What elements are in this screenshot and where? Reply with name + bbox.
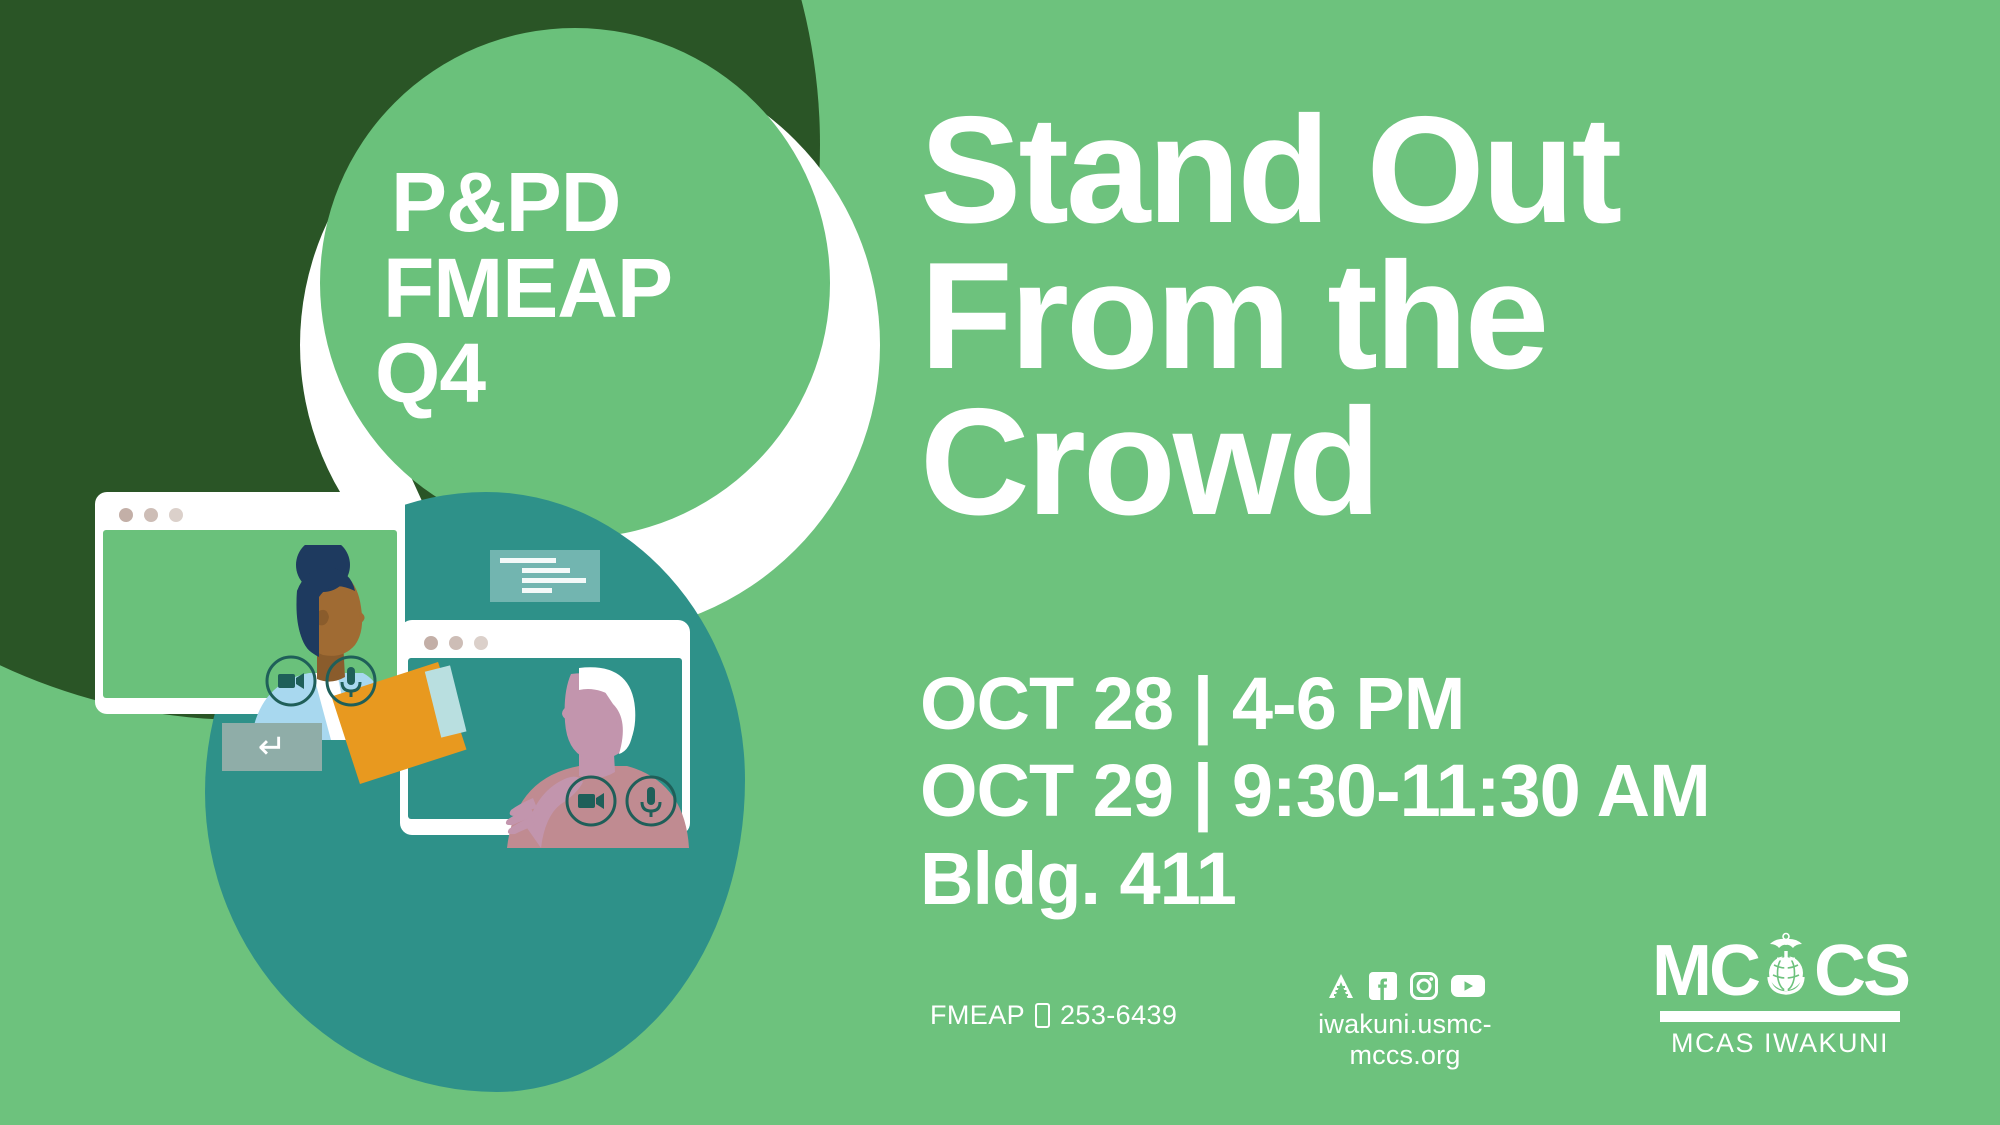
eagle-globe-anchor-icon xyxy=(1752,931,1820,1011)
contact-phone-number: 253-6439 xyxy=(1060,1000,1177,1031)
window-a-video-camera-icon[interactable] xyxy=(265,655,317,707)
mccs-cs-text: CS xyxy=(1814,935,1908,1007)
bubble-line-2: FMEAP xyxy=(375,246,795,332)
chat-line-2 xyxy=(522,568,571,573)
enter-key-button[interactable]: ↵ xyxy=(222,723,322,771)
detail-line-date-2: OCT 29 | 9:30-11:30 AM xyxy=(920,747,1940,834)
chat-line-4 xyxy=(522,588,553,593)
green-dot xyxy=(169,508,183,522)
headline-line-2: From the xyxy=(920,244,1940,390)
chat-line-3 xyxy=(522,578,587,583)
headline-line-3: Crowd xyxy=(920,390,1940,536)
window-b-titlebar xyxy=(408,628,682,658)
detail-line-location: Bldg. 411 xyxy=(920,835,1940,922)
mccs-mc-text: MC xyxy=(1652,935,1758,1007)
headline-line-1: Stand Out xyxy=(920,98,1940,244)
window-a-titlebar xyxy=(103,500,397,530)
mccs-wordmark: MC CS xyxy=(1660,935,1900,1007)
mccs-logo: MC CS MCAS IWAKUNI xyxy=(1660,935,1900,1059)
chat-message-card xyxy=(490,550,600,602)
mobile-phone-icon xyxy=(1035,1003,1050,1028)
window-b-video-camera-icon[interactable] xyxy=(565,775,617,827)
poster-canvas: P&PD FMEAP Q4 Stand Out From the Crowd O… xyxy=(0,0,2000,1125)
mccs-a-icon[interactable] xyxy=(1326,971,1356,1001)
contact-phone-block: FMEAP 253-6439 xyxy=(930,1000,1177,1031)
mccs-subtitle: MCAS IWAKUNI xyxy=(1660,1028,1900,1059)
bubble-line-3: Q4 xyxy=(375,331,795,417)
event-details: OCT 28 | 4-6 PM OCT 29 | 9:30-11:30 AM B… xyxy=(920,660,1940,922)
social-and-website-block: iwakuni.usmc-mccs.org xyxy=(1275,970,1535,1071)
window-b-microphone-icon[interactable] xyxy=(625,775,677,827)
mccs-logo-rule xyxy=(1660,1011,1900,1022)
facebook-icon[interactable] xyxy=(1369,972,1397,1000)
video-call-illustration: ↵ xyxy=(0,430,900,1125)
chat-line-1 xyxy=(500,558,556,563)
window-a-microphone-icon[interactable] xyxy=(325,655,377,707)
red-dot xyxy=(119,508,133,522)
website-url[interactable]: iwakuni.usmc-mccs.org xyxy=(1275,1009,1535,1071)
contact-label: FMEAP xyxy=(930,1000,1025,1031)
instagram-icon[interactable] xyxy=(1410,972,1438,1000)
green-dot xyxy=(474,636,488,650)
yellow-dot xyxy=(449,636,463,650)
yellow-dot xyxy=(144,508,158,522)
bubble-line-1: P&PD xyxy=(375,160,795,246)
social-icon-row xyxy=(1275,970,1535,1002)
speech-bubble-text: P&PD FMEAP Q4 xyxy=(375,160,795,417)
headline: Stand Out From the Crowd xyxy=(920,98,1940,536)
detail-line-date-1: OCT 28 | 4-6 PM xyxy=(920,660,1940,747)
youtube-icon[interactable] xyxy=(1451,973,1485,999)
